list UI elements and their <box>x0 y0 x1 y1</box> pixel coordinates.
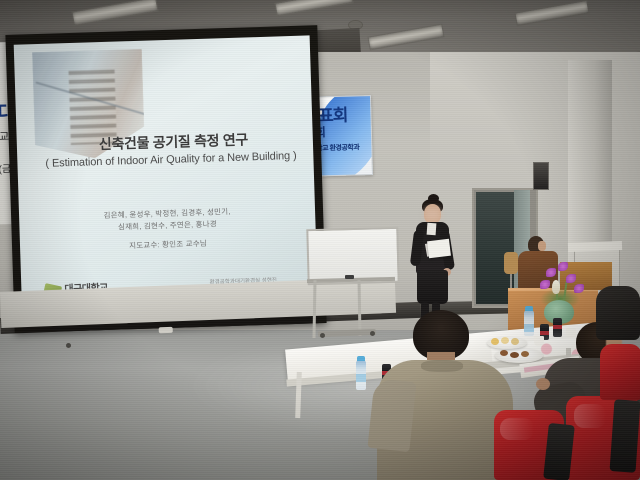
orchid-bloom <box>558 262 568 271</box>
audience-hand <box>536 378 550 390</box>
presenter-face <box>425 208 440 221</box>
audience-collar <box>421 360 463 372</box>
wall-speaker-icon <box>533 162 549 190</box>
orchid-bloom <box>540 280 550 289</box>
slide-advisor: 지도교수: 황인조 교수님 <box>20 234 316 254</box>
bottle-label <box>524 324 534 332</box>
seated-officer-face <box>538 241 546 251</box>
bottle-cap <box>357 356 365 361</box>
whiteboard-caster <box>66 343 71 348</box>
presenter-skirt <box>417 270 448 304</box>
bag-body <box>596 286 640 340</box>
slide-surface: 신축건물 공기질 측정 연구 ( Estimation of Indoor Ai… <box>14 35 318 318</box>
auditorium-seat <box>600 344 640 400</box>
presentation-room-photo: 대 교 . (금) 발표회 표회 구대학교 환경공학과 신축건물 공기질 측정 … <box>0 0 640 480</box>
water-bottle <box>524 310 534 336</box>
audience-shoulder <box>367 378 416 452</box>
orchid-bloom <box>566 274 576 283</box>
whiteboard-marker <box>345 275 354 279</box>
podium-top <box>568 241 622 252</box>
orchid-bloom <box>546 268 556 277</box>
presenter-notes <box>427 239 451 259</box>
presenter-shirt-collar <box>427 223 437 236</box>
seat-armrest <box>610 399 640 473</box>
seat-highlight <box>574 404 606 428</box>
screen-pull-handle <box>158 327 172 333</box>
bottle-cap <box>525 306 533 311</box>
whiteboard-caster <box>320 333 325 338</box>
bottle-label <box>356 374 366 382</box>
orchid-bloom <box>574 284 584 293</box>
water-bottle <box>356 360 366 390</box>
white-flower <box>552 280 560 294</box>
seat-highlight <box>500 418 534 440</box>
